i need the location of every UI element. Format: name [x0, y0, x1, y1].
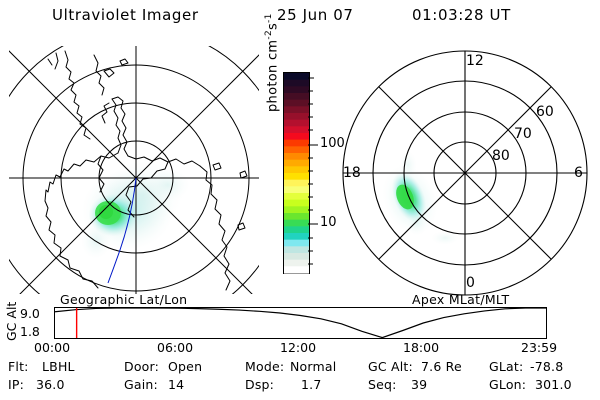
gain-label: Gain:: [124, 377, 158, 392]
orbit-xtick-4: 23:59: [521, 340, 557, 355]
colorbar-unit-main: photon cm: [265, 40, 280, 112]
orbit-xtick-0: 00:00: [34, 340, 70, 355]
mlat-label-70: 70: [514, 126, 532, 142]
orbit-ytick-bottom: 1.8: [20, 324, 40, 339]
filter-label: Flt:: [8, 359, 29, 374]
orbit-xtick-2: 12:00: [280, 340, 316, 355]
orbit-altitude-curve: [55, 308, 546, 338]
gcalt-label: GC Alt:: [368, 359, 413, 374]
instrument-title: Ultraviolet Imager: [52, 6, 199, 24]
seq-value: 39: [411, 377, 427, 392]
ip-label: IP:: [8, 377, 24, 392]
mlt-label-12: 12: [466, 53, 484, 69]
mode-value: Normal: [290, 359, 336, 374]
glon-label: GLon:: [489, 377, 526, 392]
uvi-display: Ultraviolet Imager 25 Jun 07 01:03:28 UT: [0, 0, 600, 400]
mlt-label-0: 0: [466, 275, 475, 291]
mode-label: Mode:: [245, 359, 284, 374]
observation-date: 25 Jun 07: [277, 6, 354, 24]
door-label: Door:: [124, 359, 159, 374]
mlat-label-80: 80: [492, 148, 510, 164]
geographic-map-panel: [8, 45, 260, 295]
orbit-xtick-1: 06:00: [157, 340, 193, 355]
seq-label: Seq:: [368, 377, 397, 392]
glat-value: -78.8: [530, 359, 563, 374]
glon-value: 301.0: [535, 377, 572, 392]
orbit-y-axis-label: GC Alt: [4, 302, 19, 341]
mlt-panel-title: Apex MLat/MLT: [412, 292, 509, 307]
observation-time: 01:03:28 UT: [412, 6, 511, 24]
colorbar-unit-sup1: -2: [264, 30, 274, 40]
dsp-label: Dsp:: [245, 377, 274, 392]
colorbar-unit-mid: s: [265, 23, 280, 30]
mlt-dial-panel: 12 18 6 0 60 70 80: [338, 45, 592, 295]
status-readout-panel: Flt: LBHL Door: Open Mode: Normal GC Alt…: [0, 355, 600, 400]
gcalt-value: 7.6 Re: [421, 359, 462, 374]
colorbar-unit-sup2: -1: [264, 13, 274, 23]
colorbar-gradient-box: [283, 72, 310, 274]
header-bar: Ultraviolet Imager 25 Jun 07 01:03:28 UT: [0, 6, 600, 30]
door-value: Open: [168, 359, 202, 374]
glat-label: GLat:: [489, 359, 523, 374]
mlt-label-6: 6: [574, 165, 583, 181]
colorbar-panel: photon cm-2s-1 10: [262, 50, 342, 295]
colorbar-tick-10: 10: [320, 215, 337, 230]
ip-value: 36.0: [36, 377, 65, 392]
filter-value: LBHL: [42, 359, 75, 374]
mlat-label-60: 60: [536, 104, 554, 120]
orbit-altitude-panel: Geographic Lat/Lon Apex MLat/MLT GC Alt …: [0, 293, 600, 351]
gain-value: 14: [168, 377, 184, 392]
geographic-panel-title: Geographic Lat/Lon: [60, 292, 187, 307]
dsp-value: 1.7: [301, 377, 321, 392]
orbit-ytick-top: 9.0: [20, 306, 40, 321]
colorbar-gradient: [284, 73, 309, 273]
orbit-xtick-3: 18:00: [403, 340, 439, 355]
colorbar-axis-label: photon cm-2s-1: [264, 13, 280, 112]
mlt-label-18: 18: [343, 165, 361, 181]
mlt-spokes: [343, 51, 587, 295]
